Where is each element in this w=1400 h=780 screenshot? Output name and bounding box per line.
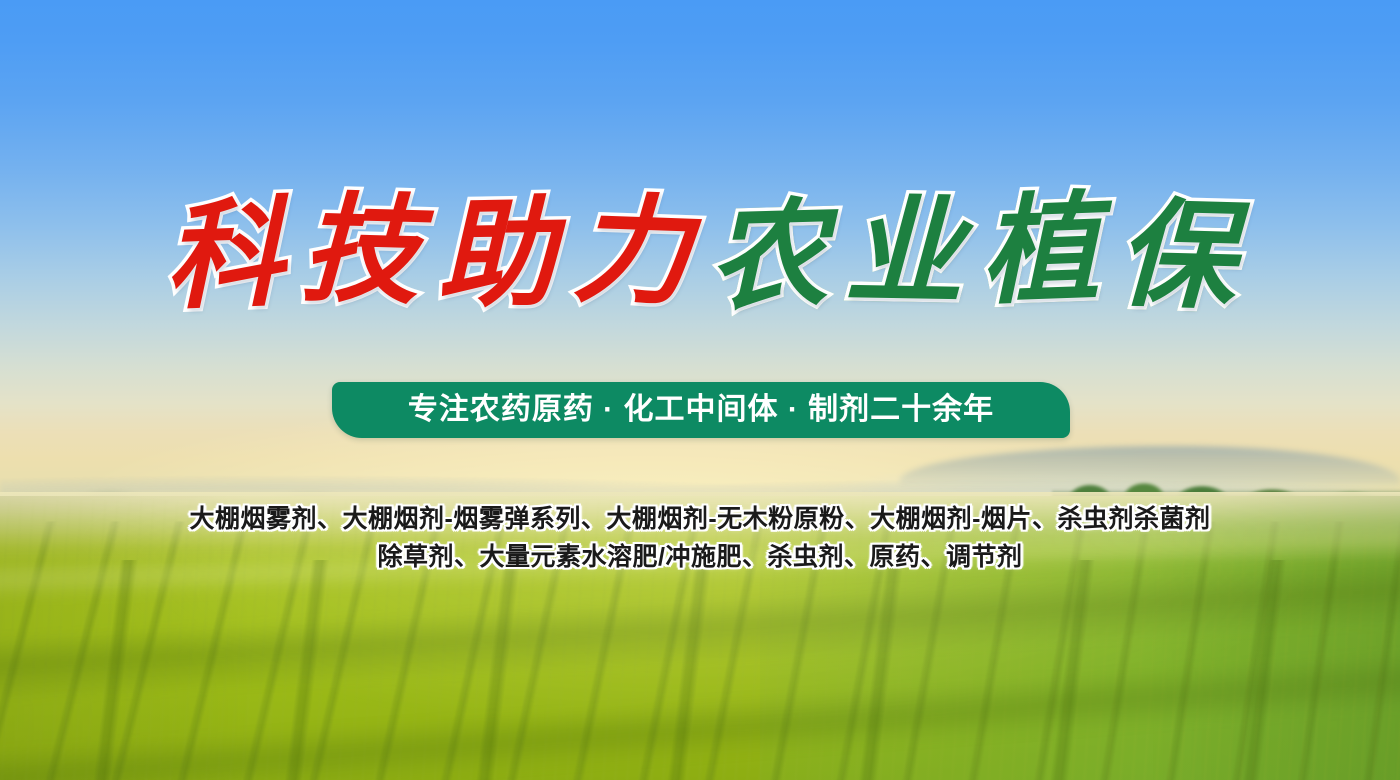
tagline-pill: 专注农药原药 · 化工中间体 · 制剂二十余年	[332, 382, 1070, 438]
tagline-text: 专注农药原药 · 化工中间体 · 制剂二十余年	[408, 395, 994, 425]
product-line-2: 除草剂、大量元素水溶肥/冲施肥、杀虫剂、原药、调节剂	[0, 538, 1400, 576]
product-list: 大棚烟雾剂、大棚烟剂-烟雾弹系列、大棚烟剂-无木粉原粉、大棚烟剂-烟片、杀虫剂杀…	[0, 500, 1400, 576]
agriculture-promo-banner: 科技助力农业植保 专注农药原药 · 化工中间体 · 制剂二十余年 大棚烟雾剂、大…	[0, 0, 1400, 780]
product-line-1: 大棚烟雾剂、大棚烟剂-烟雾弹系列、大棚烟剂-无木粉原粉、大棚烟剂-烟片、杀虫剂杀…	[0, 500, 1400, 538]
